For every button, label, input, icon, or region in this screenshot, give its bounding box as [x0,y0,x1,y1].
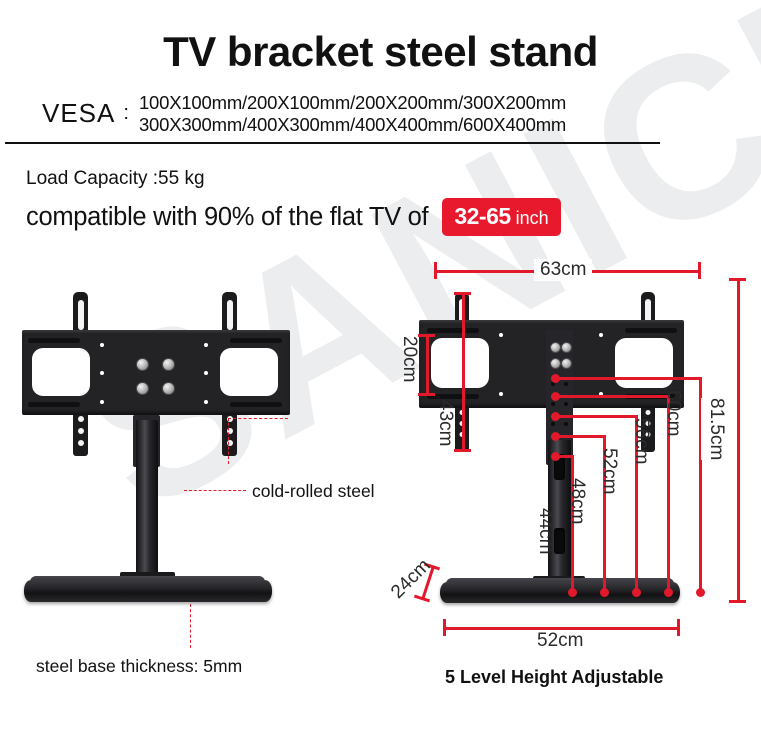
compatibility-text: compatible with 90% of the flat TV of [26,203,428,232]
vesa-line-2: 300X300mm/400X300mm/400X400mm/600X400mm [139,114,566,136]
dim-cap-815-top [729,278,746,281]
dim-line-crossbar-height [426,334,429,396]
lead-end-dot-48 [600,588,609,597]
dim-label-bracket-height: 43cm [434,400,456,446]
infographic-canvas: SANICE TV bracket steel stand VESA : 100… [0,0,761,734]
caption-height-adjustable: 5 Level Height Adjustable [445,667,663,688]
dim-line-overall-height [737,278,740,603]
dim-label-base-width: 52cm [537,630,583,652]
compatibility-row: compatible with 90% of the flat TV of 32… [26,198,561,236]
vesa-spec-row: VESA : 100X100mm/200X100mm/200X200mm/300… [42,92,566,136]
dim-label-level-44: 44cm [534,508,556,554]
tv-size-unit: inch [516,208,549,229]
vesa-bolt [561,358,572,369]
vesa-bolt [550,342,561,353]
dim-cap-52-right [677,619,680,636]
dim-label-level-60: 60cm [662,390,684,436]
base-plate [440,582,680,603]
dim-cap-43-bottom [454,449,471,452]
lead-end-dot-56 [664,588,673,597]
vesa-colon: : [123,102,129,125]
dim-cap-width-left [434,262,437,279]
load-capacity-text: Load Capacity :55 kg [26,168,205,190]
dim-cap-43-top [454,292,471,295]
vesa-line-1: 100X100mm/200X100mm/200X200mm/300X200mm [139,92,566,114]
vesa-values: 100X100mm/200X100mm/200X200mm/300X200mm … [139,92,566,136]
dim-label-level-56: 56cm [630,418,652,464]
lead-line-52-h [555,415,638,418]
vesa-label: VESA [42,98,115,129]
dim-label-crossbar-height: 20cm [398,336,420,382]
dim-cap-52-left [443,619,446,636]
dim-label-overall-width: 63cm [534,259,592,281]
dim-line-bracket-height [462,292,465,452]
lead-line-60-h [555,377,702,380]
page-title: TV bracket steel stand [0,28,761,76]
lead-line-56-h [555,395,670,398]
dim-label-overall-height: 81.5cm [701,398,731,460]
dim-label-level-52: 52cm [598,448,620,494]
header-divider [5,142,660,144]
tv-size-range: 32-65 [454,203,510,230]
dim-label-level-48: 48cm [566,478,588,524]
lead-end-dot-60 [696,588,705,597]
vesa-bolt [550,358,561,369]
lead-line-48-h [555,435,606,438]
dim-cap-20-bottom [418,393,435,396]
dim-cap-width-right [698,262,701,279]
lead-end-dot-44 [568,588,577,597]
dim-cap-20-top [418,334,435,337]
vesa-bolt [561,342,572,353]
dim-cap-815-bottom [729,600,746,603]
lead-end-dot-52 [632,588,641,597]
tv-size-badge: 32-65 inch [442,198,560,236]
